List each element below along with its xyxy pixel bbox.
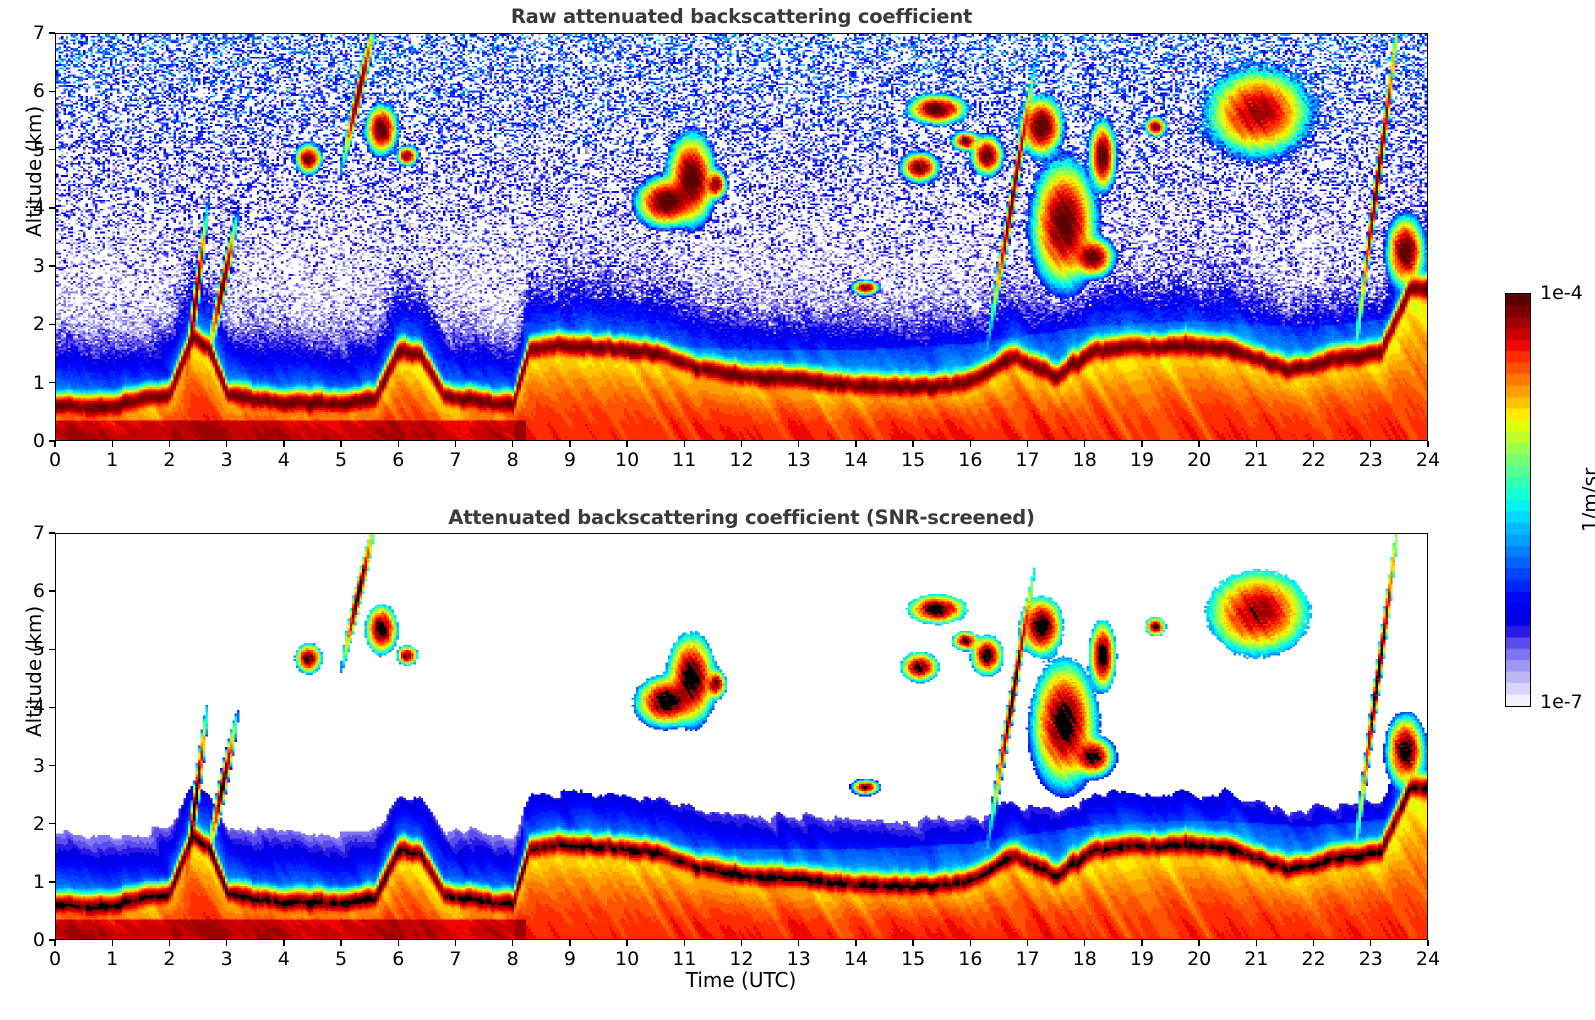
x-tick xyxy=(569,940,570,946)
panel-title-screened: Attenuated backscattering coefficient (S… xyxy=(55,506,1428,529)
x-tick-label: 4 xyxy=(278,948,290,970)
x-tick-label: 2 xyxy=(163,948,175,970)
y-tick xyxy=(49,324,55,325)
x-tick-label: 6 xyxy=(392,449,404,471)
y-tick-label: 7 xyxy=(13,522,45,544)
x-tick-label: 3 xyxy=(221,948,233,970)
x-tick xyxy=(741,441,742,447)
x-tick xyxy=(455,441,456,447)
x-tick-label: 18 xyxy=(1073,449,1097,471)
x-tick-label: 7 xyxy=(449,449,461,471)
x-tick-label: 19 xyxy=(1130,449,1154,471)
y-tick xyxy=(49,881,55,882)
x-tick-label: 12 xyxy=(729,948,753,970)
y-tick xyxy=(49,382,55,383)
heatmap-canvas-raw xyxy=(56,34,1427,440)
y-tick-label: 2 xyxy=(13,313,45,335)
x-tick xyxy=(398,940,399,946)
x-tick-label: 17 xyxy=(1015,948,1039,970)
x-tick xyxy=(1198,940,1199,946)
x-tick-label: 14 xyxy=(844,948,868,970)
x-tick xyxy=(169,441,170,447)
y-tick-label: 1 xyxy=(13,372,45,394)
x-tick-label: 6 xyxy=(392,948,404,970)
x-tick xyxy=(283,940,284,946)
x-tick-label: 20 xyxy=(1187,948,1211,970)
x-tick-label: 5 xyxy=(335,449,347,471)
x-tick-label: 1 xyxy=(106,449,118,471)
y-tick xyxy=(49,265,55,266)
x-tick-label: 17 xyxy=(1015,449,1039,471)
x-tick-label: 15 xyxy=(901,449,925,471)
x-tick-label: 11 xyxy=(672,449,696,471)
x-tick-label: 0 xyxy=(49,948,61,970)
x-tick xyxy=(1027,940,1028,946)
x-tick xyxy=(684,940,685,946)
x-tick-label: 14 xyxy=(844,449,868,471)
x-tick xyxy=(626,441,627,447)
x-axis-label: Time (UTC) xyxy=(686,968,797,992)
x-tick-label: 22 xyxy=(1301,948,1325,970)
x-tick-label: 10 xyxy=(615,948,639,970)
x-tick-label: 10 xyxy=(615,449,639,471)
colorbar-canvas xyxy=(1505,293,1531,707)
x-tick-label: 16 xyxy=(958,449,982,471)
y-tick-label: 7 xyxy=(13,22,45,44)
x-tick xyxy=(226,940,227,946)
x-tick-label: 8 xyxy=(507,449,519,471)
y-tick-label: 0 xyxy=(13,929,45,951)
y-tick-label: 2 xyxy=(13,813,45,835)
x-tick-label: 7 xyxy=(449,948,461,970)
colorbar-min-label: 1e-7 xyxy=(1540,691,1583,713)
x-tick xyxy=(1141,940,1142,946)
y-tick-label: 0 xyxy=(13,430,45,452)
x-tick-label: 4 xyxy=(278,449,290,471)
x-tick-label: 2 xyxy=(163,449,175,471)
x-tick xyxy=(1141,441,1142,447)
y-tick-label: 6 xyxy=(13,580,45,602)
panel-title-raw: Raw attenuated backscattering coefficien… xyxy=(55,5,1428,28)
plot-area-raw xyxy=(55,33,1428,441)
y-tick xyxy=(49,532,55,533)
y-tick xyxy=(49,823,55,824)
x-tick xyxy=(512,940,513,946)
x-tick xyxy=(1370,940,1371,946)
x-tick xyxy=(1084,441,1085,447)
x-tick-label: 24 xyxy=(1416,449,1440,471)
x-tick xyxy=(226,441,227,447)
y-axis-label-raw: Altitude (km) xyxy=(22,106,46,237)
x-tick-label: 8 xyxy=(507,948,519,970)
y-tick xyxy=(49,440,55,441)
y-tick xyxy=(49,32,55,33)
x-tick xyxy=(970,940,971,946)
x-tick xyxy=(855,441,856,447)
x-tick-label: 21 xyxy=(1244,449,1268,471)
y-tick xyxy=(49,649,55,650)
x-tick-label: 5 xyxy=(335,948,347,970)
x-tick xyxy=(912,441,913,447)
colorbar xyxy=(1505,293,1531,707)
x-tick xyxy=(1256,940,1257,946)
y-tick xyxy=(49,765,55,766)
x-tick xyxy=(970,441,971,447)
x-tick xyxy=(1427,940,1428,946)
x-tick-label: 22 xyxy=(1301,449,1325,471)
x-tick xyxy=(1198,441,1199,447)
x-tick xyxy=(855,940,856,946)
x-tick-label: 18 xyxy=(1073,948,1097,970)
x-tick xyxy=(112,940,113,946)
x-tick xyxy=(169,940,170,946)
x-tick xyxy=(455,940,456,946)
x-tick xyxy=(54,441,55,447)
y-tick xyxy=(49,149,55,150)
x-tick-label: 0 xyxy=(49,449,61,471)
x-tick-label: 19 xyxy=(1130,948,1154,970)
x-tick-label: 11 xyxy=(672,948,696,970)
x-tick xyxy=(398,441,399,447)
x-tick xyxy=(912,940,913,946)
colorbar-title: 1/m/sr xyxy=(1578,468,1595,532)
y-tick-label: 1 xyxy=(13,871,45,893)
x-tick xyxy=(741,940,742,946)
x-tick-label: 9 xyxy=(564,948,576,970)
colorbar-max-label: 1e-4 xyxy=(1540,282,1583,304)
y-tick-label: 3 xyxy=(13,255,45,277)
y-tick xyxy=(49,207,55,208)
x-tick xyxy=(340,441,341,447)
x-tick xyxy=(569,441,570,447)
y-tick xyxy=(49,590,55,591)
heatmap-canvas-screened xyxy=(56,534,1427,939)
y-axis-label-screened: Altitude (km) xyxy=(22,606,46,737)
plot-area-screened xyxy=(55,533,1428,940)
x-tick-label: 20 xyxy=(1187,449,1211,471)
x-tick xyxy=(1427,441,1428,447)
x-tick-label: 13 xyxy=(787,449,811,471)
x-tick xyxy=(1256,441,1257,447)
x-tick xyxy=(1084,940,1085,946)
y-tick-label: 3 xyxy=(13,755,45,777)
x-tick-label: 23 xyxy=(1359,449,1383,471)
x-tick xyxy=(283,441,284,447)
x-tick-label: 15 xyxy=(901,948,925,970)
y-tick xyxy=(49,939,55,940)
lidar-backscatter-figure: Raw attenuated backscattering coefficien… xyxy=(0,0,1595,1020)
x-tick xyxy=(626,940,627,946)
x-tick xyxy=(798,441,799,447)
x-tick-label: 24 xyxy=(1416,948,1440,970)
x-tick-label: 16 xyxy=(958,948,982,970)
x-tick-label: 21 xyxy=(1244,948,1268,970)
x-tick xyxy=(54,940,55,946)
x-tick xyxy=(1313,940,1314,946)
x-tick xyxy=(112,441,113,447)
y-tick-label: 6 xyxy=(13,80,45,102)
x-tick-label: 3 xyxy=(221,449,233,471)
x-tick-label: 12 xyxy=(729,449,753,471)
x-tick-label: 13 xyxy=(787,948,811,970)
x-tick-label: 23 xyxy=(1359,948,1383,970)
x-tick xyxy=(684,441,685,447)
x-tick xyxy=(1027,441,1028,447)
x-tick xyxy=(798,940,799,946)
x-tick xyxy=(512,441,513,447)
y-tick xyxy=(49,91,55,92)
x-tick-label: 9 xyxy=(564,449,576,471)
x-tick-label: 1 xyxy=(106,948,118,970)
x-tick xyxy=(1370,441,1371,447)
y-tick xyxy=(49,707,55,708)
x-tick xyxy=(1313,441,1314,447)
x-tick xyxy=(340,940,341,946)
